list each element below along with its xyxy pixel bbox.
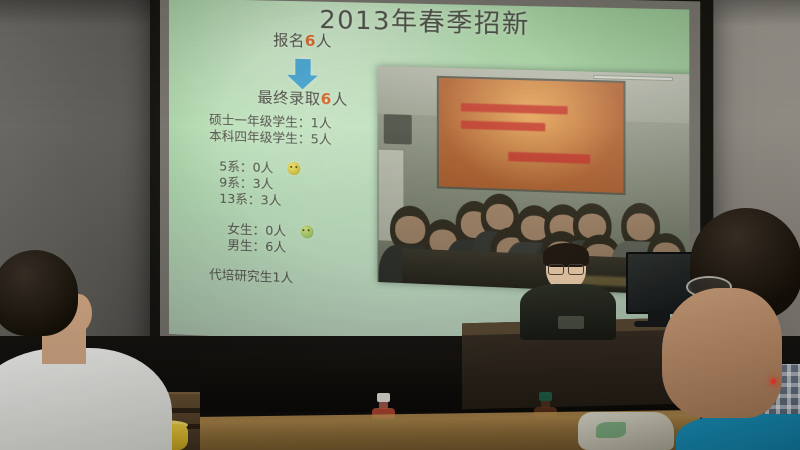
audience-member-glasses [668, 214, 800, 450]
plastic-bag [578, 412, 674, 450]
plastic-bag-pattern [596, 422, 626, 438]
funnel-bottom-number: 6 [321, 90, 332, 109]
presenter-shirt-graphic [558, 316, 584, 329]
funnel-bottom-prefix: 最终录取 [257, 88, 320, 108]
photo-inner-projection [437, 76, 626, 195]
presenter-at-podium [520, 246, 616, 332]
audience-member-white-shirt [0, 250, 172, 450]
bottle-cap [539, 392, 552, 401]
inner-screen-text-line [461, 120, 545, 131]
slide-statistics: 硕士一年级学生：1人 本科四年级学生：5人 5系：0人 9系：3人 13系：3人… [209, 112, 403, 291]
funnel-top-suffix: 人 [316, 32, 332, 51]
audience-right-hand [662, 288, 782, 418]
arrow-down-icon [295, 59, 310, 76]
funnel-top-number: 6 [305, 32, 316, 51]
bottle-cap [377, 393, 390, 402]
funnel-top-prefix: 报名 [273, 31, 305, 50]
inner-screen-text-line [461, 103, 568, 115]
crying-face-emoji [300, 225, 313, 239]
audience-right-teal-shirt [676, 414, 800, 450]
funnel-bottom-suffix: 人 [332, 90, 348, 109]
presenter-shirt [520, 284, 616, 340]
led-indicator-icon [771, 379, 776, 384]
audience-left-hair [0, 250, 78, 336]
presenter-glasses-icon [548, 264, 584, 273]
photo-scene: 2013年春季招新 报名6人 最终录取6人 硕士一年级学生：1人 本科四年级学生… [0, 0, 800, 450]
wall-speaker [384, 114, 412, 145]
smiley-face-emoji [288, 162, 301, 176]
recruitment-funnel: 报名6人 最终录取6人 [221, 28, 385, 111]
stat-text: 5系：0人 [219, 158, 273, 175]
stat-text: 女生：0人 [227, 221, 286, 238]
audience-left-shirt [0, 348, 172, 450]
person-face [396, 215, 425, 244]
projection-screen-mat: 2013年春季招新 报名6人 最终录取6人 硕士一年级学生：1人 本科四年级学生… [160, 0, 700, 372]
inner-screen-text-line [508, 152, 589, 163]
funnel-arrow-wrap [221, 49, 385, 90]
